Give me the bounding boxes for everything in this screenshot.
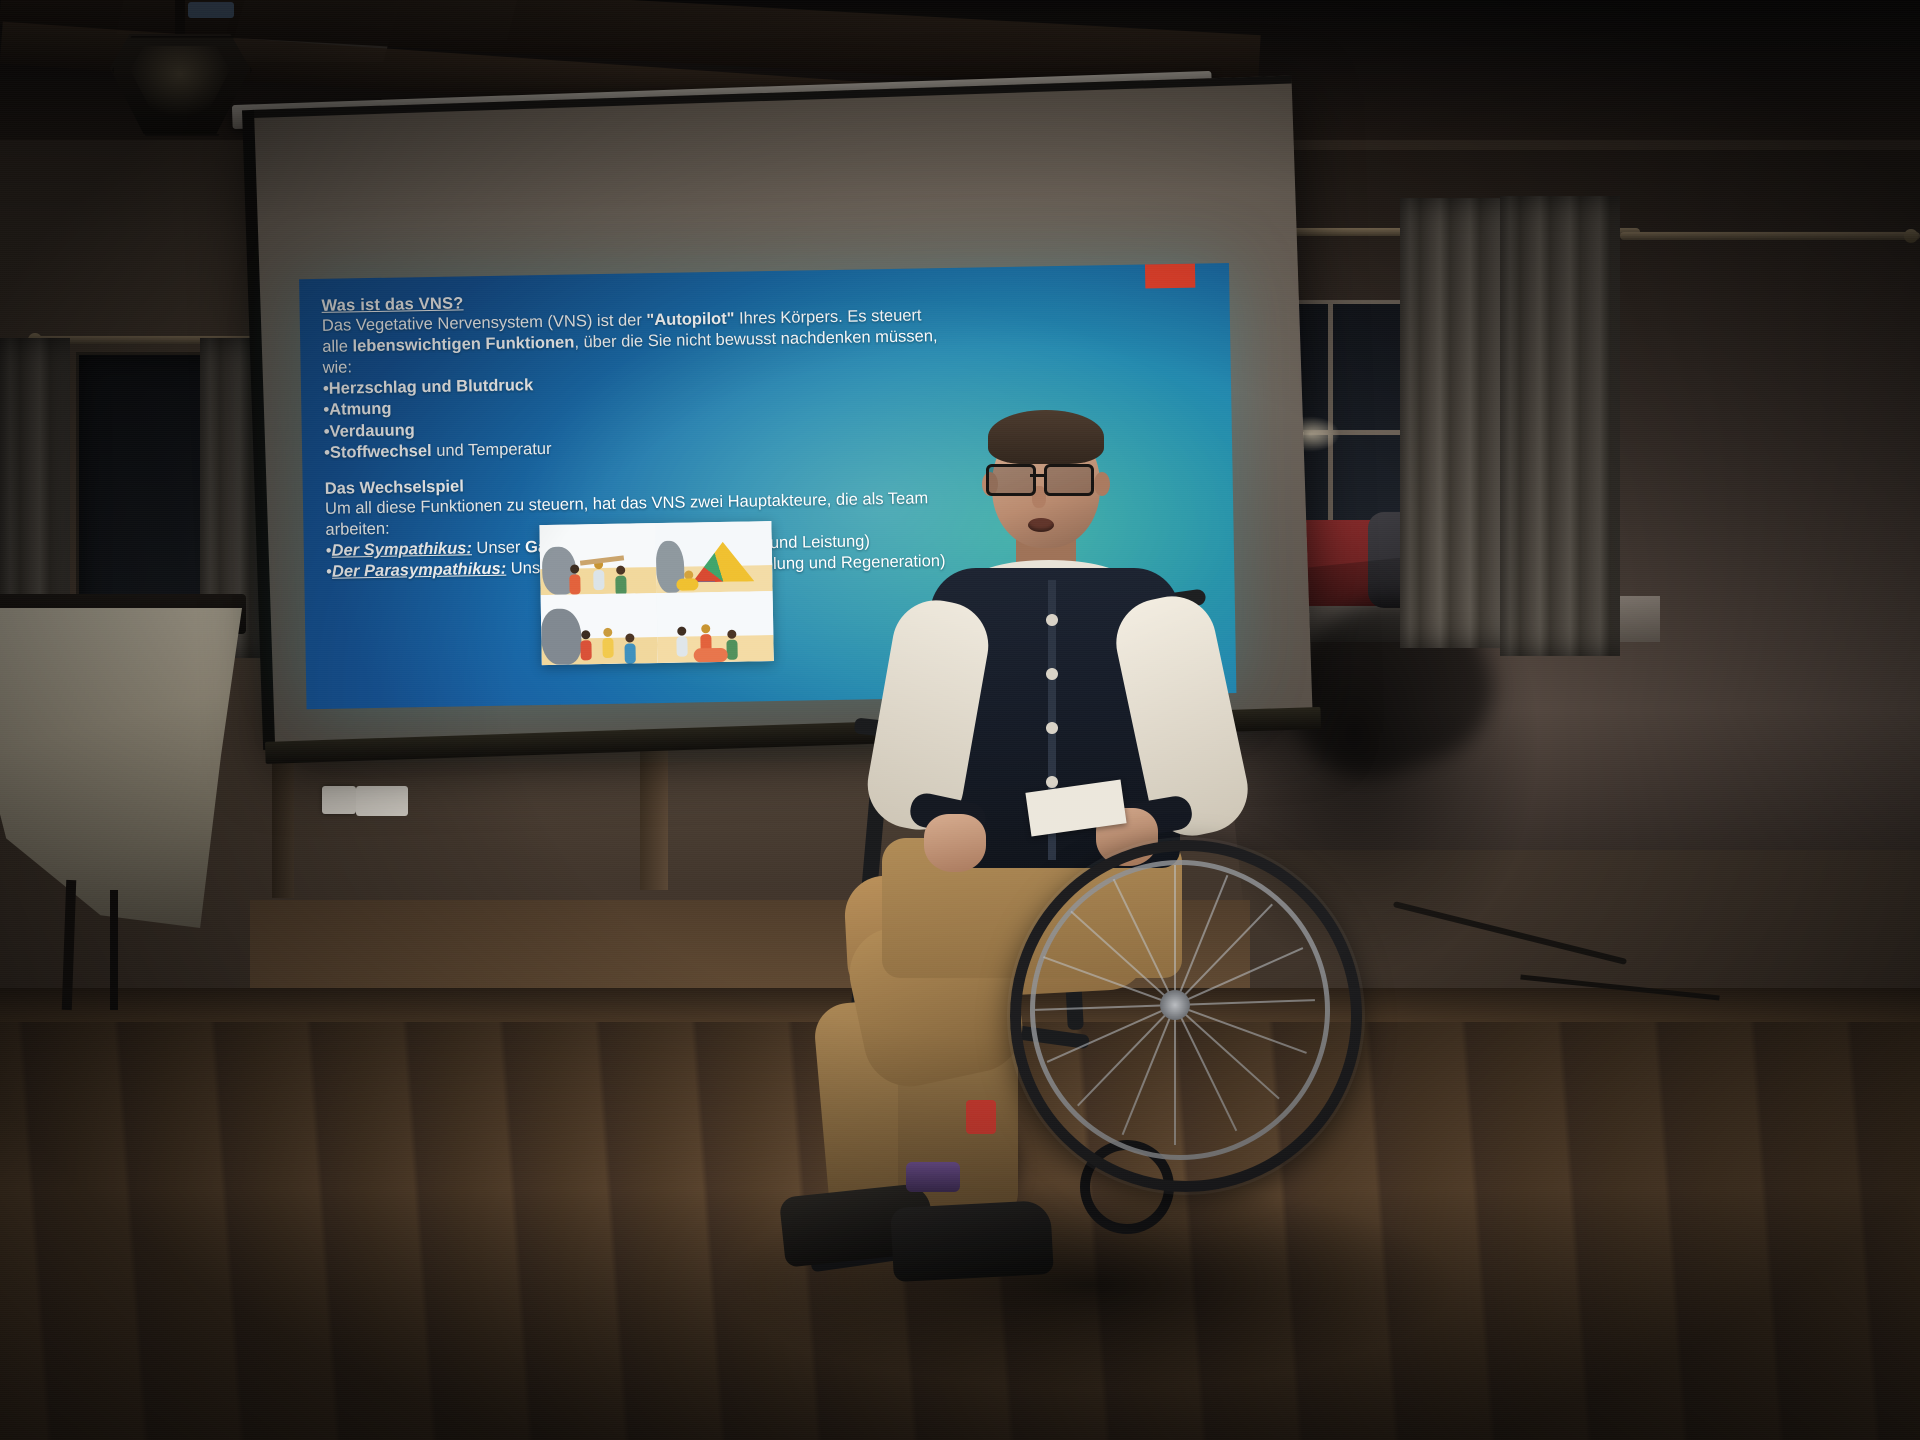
mund: [1028, 518, 1054, 532]
vorhang-rechts-3: [1500, 196, 1620, 656]
steinzeit-comic-vier-panels: [539, 521, 773, 665]
tischbein-2: [110, 890, 118, 1010]
brillensteg: [1030, 474, 1044, 477]
intro-1-post: Ihres Körpers. Es steuert: [734, 307, 921, 328]
comic-panel-3: [541, 593, 658, 665]
parasympathikus-term: Der Parasympathikus:: [332, 559, 507, 580]
referent-im-rollstuhl: [760, 400, 1320, 1420]
comic-panel-4: [657, 591, 774, 663]
bullet-4-rest: und Temperatur: [431, 440, 551, 460]
haare: [988, 410, 1104, 464]
intro-2-pre: alle: [322, 338, 353, 357]
photo-scene: Was ist das VNS? Das Vegetative Nervensy…: [0, 0, 1920, 1440]
hand-links: [924, 814, 986, 872]
brillenglas-links: [986, 464, 1036, 496]
brillenglas-rechts: [1044, 464, 1094, 496]
gardinenstange-knauf-rechts-2: [1904, 229, 1918, 243]
comic-panel-1: [539, 523, 656, 595]
rauchmelder-icon: [188, 2, 234, 18]
intro-1-bold: "Autopilot": [646, 310, 734, 330]
steckdose-2: [356, 786, 408, 816]
holzpfosten-mitte: [640, 740, 668, 890]
bullet-2-bold: Atmung: [329, 400, 392, 419]
intro-2-bold: lebenswichtigen Funktionen: [352, 334, 574, 356]
comic-panel-2: [655, 521, 772, 593]
bullet-4-bold: Stoffwechsel: [330, 442, 432, 462]
holzpfosten-links: [272, 748, 294, 898]
knopf-4: [1046, 776, 1058, 788]
steckdose-1: [322, 786, 356, 814]
gardinenstange-rechts-2: [1620, 232, 1920, 240]
sympathikus-pre: Unser: [472, 538, 525, 557]
knopf-1: [1046, 614, 1058, 626]
intro-2-post: , über die Sie nicht bewusst nachdenken …: [574, 327, 937, 351]
brille-icon: [986, 464, 1108, 490]
schuh-rechts: [890, 1200, 1054, 1282]
sympathikus-term: Der Sympathikus:: [331, 539, 472, 559]
bullet-3-bold: Verdauung: [329, 421, 415, 440]
knopf-2: [1046, 668, 1058, 680]
knopf-3: [1046, 722, 1058, 734]
bullet-1-bold: Herzschlag und Blutdruck: [329, 376, 534, 398]
